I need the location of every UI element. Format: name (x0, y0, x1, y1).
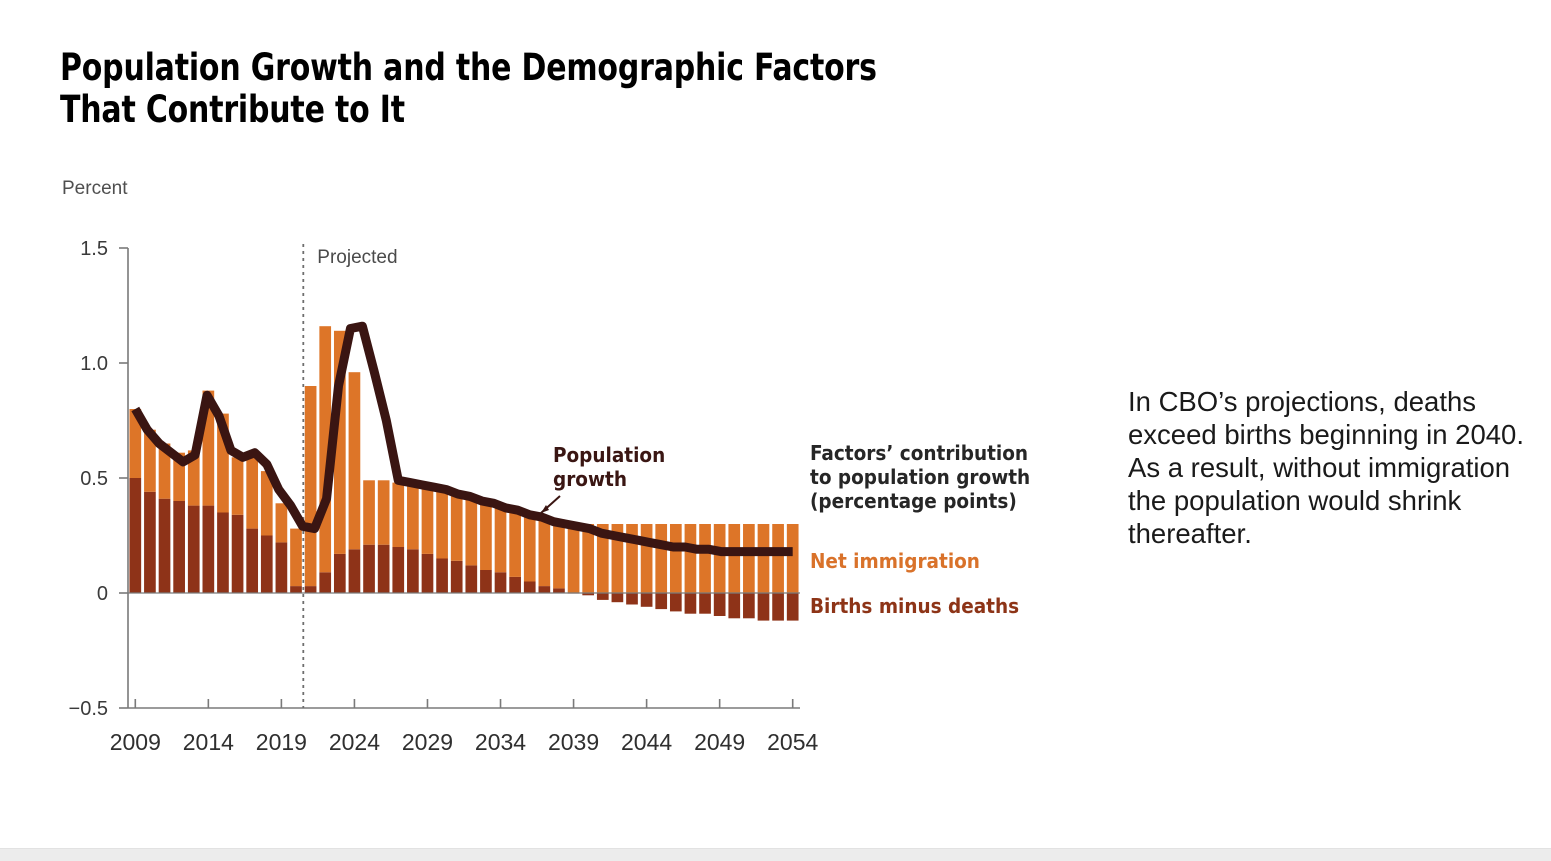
population-growth-chart: −0.500.51.01.520092014201920242029203420… (0, 0, 1060, 790)
bar-births-minus-deaths (188, 506, 200, 593)
bar-births-minus-deaths (159, 499, 171, 593)
bar-births-minus-deaths (232, 515, 244, 593)
slide-canvas: Population Growth and the Demographic Fa… (0, 0, 1551, 861)
bar-births-minus-deaths (714, 593, 726, 616)
bar-net-immigration (480, 501, 492, 570)
bar-births-minus-deaths (407, 549, 419, 593)
bar-births-minus-deaths (758, 593, 770, 621)
bar-net-immigration (699, 524, 711, 593)
bar-net-immigration (568, 524, 580, 593)
bar-births-minus-deaths (451, 561, 463, 593)
bar-births-minus-deaths (743, 593, 755, 618)
x-tick-label: 2009 (110, 729, 161, 755)
bar-births-minus-deaths (422, 554, 434, 593)
bar-births-minus-deaths (480, 570, 492, 593)
bar-net-immigration (509, 508, 521, 577)
y-tick-label: −0.5 (69, 698, 108, 720)
population-growth-annotation-line2: growth (553, 467, 627, 491)
bar-net-immigration (743, 524, 755, 593)
chart-figure: −0.500.51.01.520092014201920242029203420… (0, 0, 1060, 790)
bar-net-immigration (349, 372, 361, 549)
legend-net-immigration-label: Net immigration (810, 549, 980, 573)
x-tick-label: 2044 (621, 729, 672, 755)
bar-net-immigration (246, 457, 258, 528)
slide-bottom-band (0, 848, 1551, 861)
bar-net-immigration (378, 480, 390, 544)
x-tick-label: 2054 (767, 729, 818, 755)
bar-births-minus-deaths (685, 593, 697, 614)
x-tick-label: 2024 (329, 729, 380, 755)
y-tick-label: 1.5 (80, 238, 108, 260)
bar-births-minus-deaths (203, 506, 215, 593)
bar-births-minus-deaths (699, 593, 711, 614)
y-tick-label: 1.0 (80, 353, 108, 375)
bar-births-minus-deaths (378, 545, 390, 593)
bar-net-immigration (655, 524, 667, 593)
bar-net-immigration (714, 524, 726, 593)
bar-net-immigration (392, 483, 404, 547)
bar-births-minus-deaths (436, 559, 448, 594)
bar-net-immigration (305, 386, 317, 586)
bar-net-immigration (436, 492, 448, 559)
population-growth-annotation-line1: Population (553, 443, 665, 467)
legend-heading-line3: (percentage points) (810, 489, 1017, 513)
bar-net-immigration (758, 524, 770, 593)
x-tick-label: 2034 (475, 729, 526, 755)
bar-births-minus-deaths (509, 577, 521, 593)
bar-births-minus-deaths (363, 545, 375, 593)
bar-net-immigration (232, 457, 244, 515)
bar-net-immigration (539, 517, 551, 586)
x-tick-label: 2019 (256, 729, 307, 755)
bar-births-minus-deaths (349, 549, 361, 593)
bar-net-immigration (290, 529, 302, 587)
bar-births-minus-deaths (319, 572, 331, 593)
bar-net-immigration (363, 480, 375, 544)
bar-net-immigration (465, 496, 477, 565)
bars-layer (129, 326, 798, 620)
x-tick-label: 2014 (183, 729, 234, 755)
bar-net-immigration (787, 524, 799, 593)
projected-label: Projected (317, 247, 397, 268)
side-commentary-text: In CBO’s projections, deaths exceed birt… (1128, 385, 1538, 550)
bar-net-immigration (641, 524, 653, 593)
bar-births-minus-deaths (465, 565, 477, 593)
bar-net-immigration (451, 494, 463, 561)
bar-net-immigration (422, 487, 434, 554)
bar-births-minus-deaths (626, 593, 638, 605)
bar-births-minus-deaths (772, 593, 784, 621)
bar-net-immigration (276, 503, 288, 542)
bar-births-minus-deaths (787, 593, 799, 621)
bar-births-minus-deaths (276, 542, 288, 593)
bar-births-minus-deaths (334, 554, 346, 593)
bar-births-minus-deaths (392, 547, 404, 593)
y-tick-label: 0.5 (80, 468, 108, 490)
legend-heading-line2: to population growth (810, 465, 1030, 489)
x-tick-label: 2039 (548, 729, 599, 755)
bar-births-minus-deaths (728, 593, 740, 618)
bar-births-minus-deaths (129, 478, 141, 593)
bar-births-minus-deaths (655, 593, 667, 609)
bar-net-immigration (685, 524, 697, 593)
bar-births-minus-deaths (217, 513, 229, 594)
x-tick-label: 2049 (694, 729, 745, 755)
legend-births-minus-deaths-label: Births minus deaths (810, 594, 1019, 618)
bar-births-minus-deaths (553, 588, 565, 593)
legend-heading-line1: Factors’ contribution (810, 441, 1028, 465)
x-tick-label: 2029 (402, 729, 453, 755)
bar-births-minus-deaths (597, 593, 609, 600)
y-tick-label: 0 (97, 583, 108, 605)
bar-births-minus-deaths (539, 586, 551, 593)
bar-births-minus-deaths (524, 582, 536, 594)
bar-births-minus-deaths (612, 593, 624, 602)
bar-net-immigration (728, 524, 740, 593)
bar-net-immigration (407, 483, 419, 550)
bar-net-immigration (553, 519, 565, 588)
bar-births-minus-deaths (144, 492, 156, 593)
bar-births-minus-deaths (495, 572, 507, 593)
bar-net-immigration (670, 524, 682, 593)
bar-births-minus-deaths (173, 501, 185, 593)
bar-births-minus-deaths (670, 593, 682, 611)
bar-births-minus-deaths (261, 536, 273, 594)
bar-births-minus-deaths (246, 529, 258, 593)
bar-net-immigration (772, 524, 784, 593)
bar-births-minus-deaths (290, 586, 302, 593)
bar-net-immigration (495, 503, 507, 572)
bar-births-minus-deaths (641, 593, 653, 607)
bar-births-minus-deaths (305, 586, 317, 593)
bar-net-immigration (524, 513, 536, 582)
